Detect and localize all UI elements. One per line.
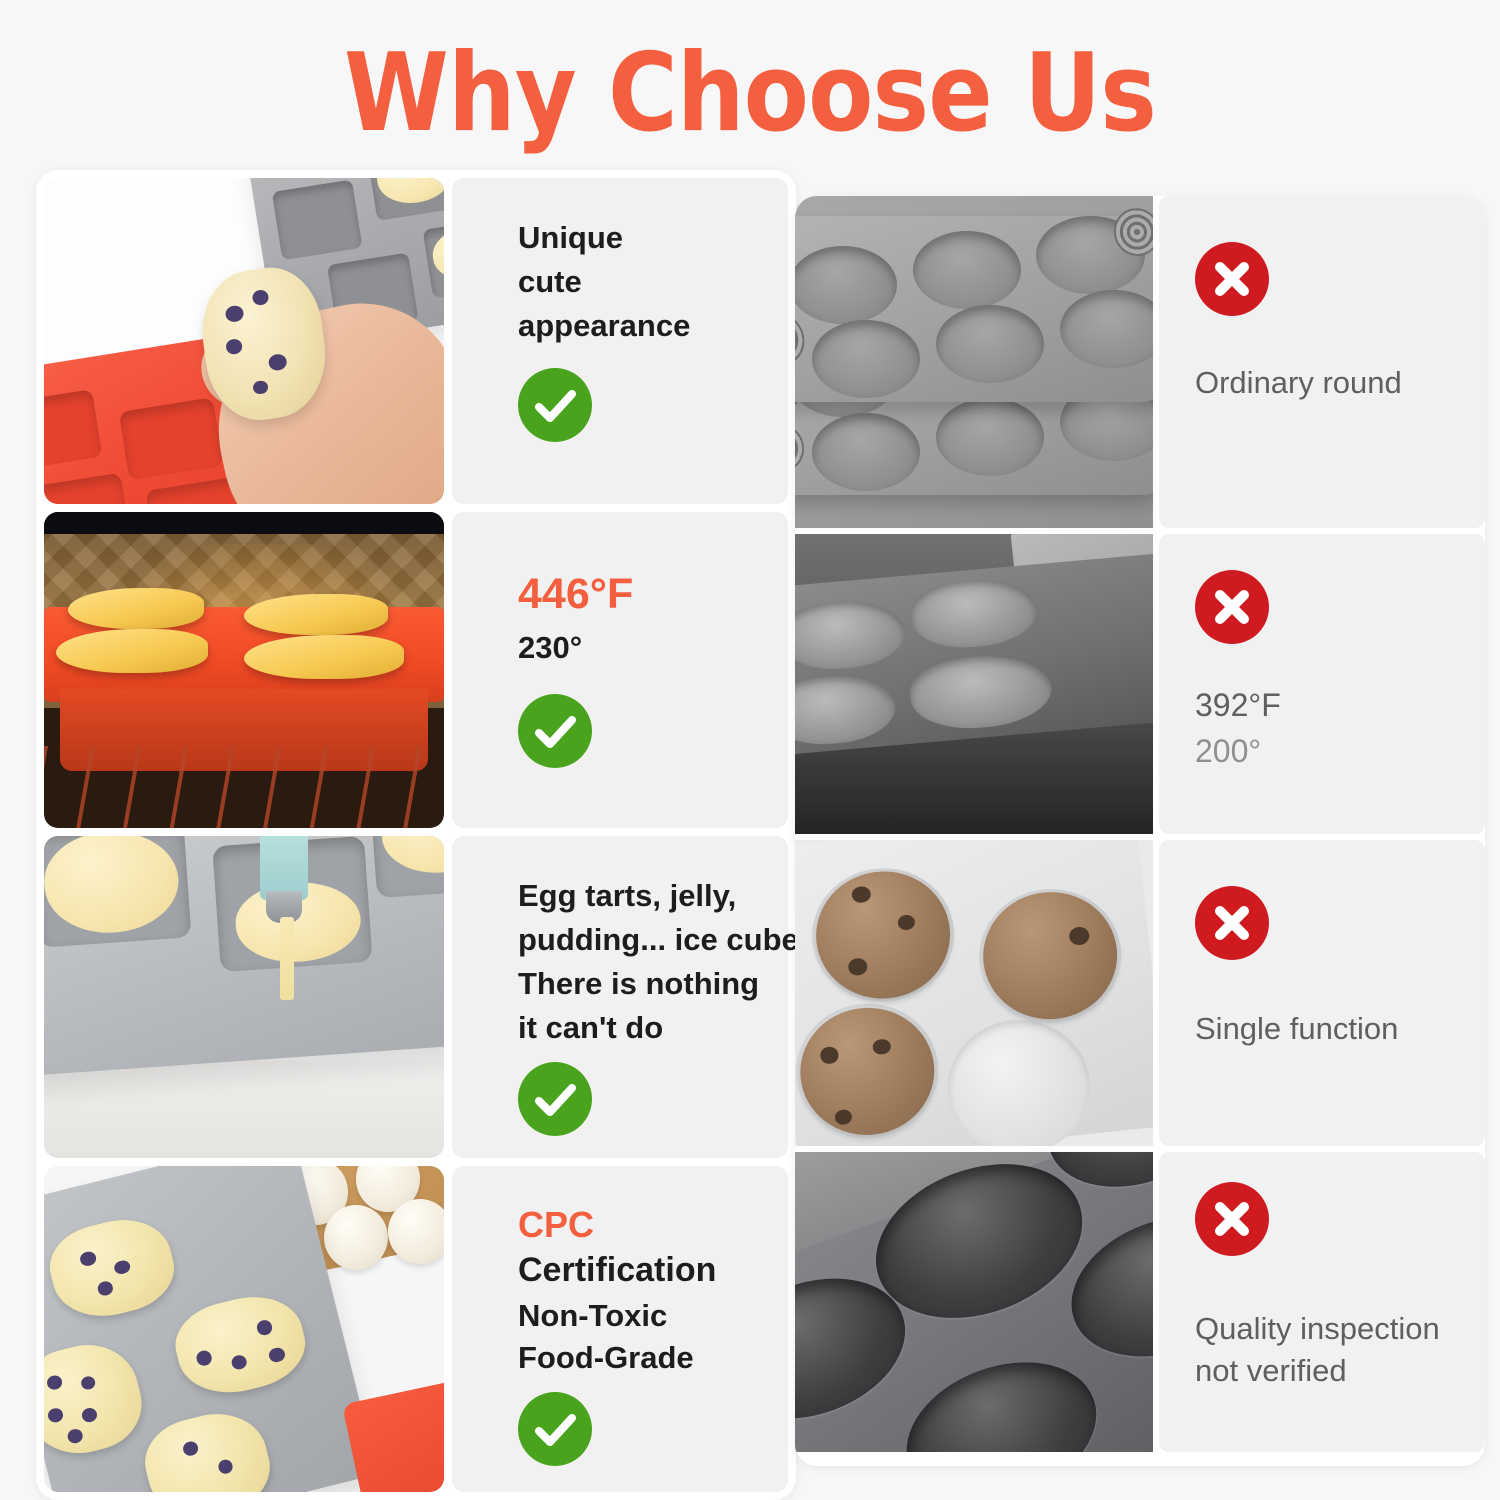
pro-card-multi-use: Egg tarts, jelly, pudding... ice cubes T…	[452, 836, 788, 1158]
photo-mold-in-oven	[44, 512, 444, 828]
cross-icon	[1195, 1182, 1269, 1256]
con-card-ordinary-round: Ordinary round	[1159, 196, 1485, 528]
cons-column: Ordinary round	[795, 196, 1485, 1466]
photo-piping-batter	[44, 836, 444, 1158]
pro-card-unique-appearance: Unique cute appearance	[452, 178, 788, 504]
pro-temp-celsius: 230°	[518, 630, 582, 666]
pro-row-unique-appearance: Unique cute appearance	[44, 178, 788, 504]
pro-text-line-3: There is nothing	[518, 962, 759, 1006]
pro-row-heat-resistance: 446°F 230°	[44, 512, 788, 828]
page-title: Why Choose Us	[90, 26, 1410, 161]
con-row-no-quality-inspection: Quality inspection not verified	[795, 1152, 1485, 1452]
oven-rack	[44, 746, 444, 828]
gray-mold	[44, 836, 444, 1077]
pro-text-line-2: Non-Toxic	[518, 1294, 667, 1338]
con-text-line-2: not verified	[1195, 1350, 1347, 1392]
infographic-page: Why Choose Us	[0, 0, 1500, 1500]
check-icon	[518, 1062, 592, 1136]
cross-icon	[1195, 242, 1269, 316]
pro-text-line-1: Unique	[518, 216, 623, 260]
dark-pan	[795, 1152, 1153, 1452]
photo-dark-round-pan-closeup	[795, 1152, 1153, 1452]
pro-text-line-4: it can't do	[518, 1006, 663, 1050]
oven-top-edge	[44, 512, 444, 534]
pro-row-multi-use: Egg tarts, jelly, pudding... ice cubes T…	[44, 836, 788, 1158]
pro-row-certification: CPC Certification Non-Toxic Food-Grade	[44, 1166, 788, 1492]
check-icon	[518, 1392, 592, 1466]
pro-text-line-2: cute	[518, 260, 582, 304]
pro-text-line-3: appearance	[518, 304, 690, 348]
con-text-line-1: Quality inspection	[1195, 1308, 1440, 1350]
check-icon	[518, 368, 592, 442]
pro-card-certification: CPC Certification Non-Toxic Food-Grade	[452, 1166, 788, 1492]
pro-card-heat-resistance: 446°F 230°	[452, 512, 788, 828]
speckled-tray	[795, 840, 1153, 1146]
cross-icon	[1195, 570, 1269, 644]
photo-speckled-tray-muffins	[795, 840, 1153, 1146]
pro-text-line-1: Egg tarts, jelly,	[518, 874, 736, 918]
photo-grayscale-mold-in-oven	[795, 534, 1153, 834]
pros-column: Unique cute appearance	[36, 170, 796, 1500]
con-card-single-function: Single function	[1159, 840, 1485, 1146]
con-row-lower-heat: 392°F 200°	[795, 534, 1485, 834]
con-temp-celsius: 200°	[1195, 730, 1261, 773]
photo-muffins-and-eggs	[44, 1166, 444, 1492]
batter-stream	[280, 917, 294, 1001]
pro-text-line-2: pudding... ice cubes	[518, 918, 796, 962]
cross-icon	[1195, 886, 1269, 960]
con-card-no-quality-inspection: Quality inspection not verified	[1159, 1152, 1485, 1452]
con-row-single-function: Single function	[795, 840, 1485, 1146]
table-surface	[44, 1061, 444, 1158]
gray-mold	[795, 552, 1153, 756]
check-icon	[518, 694, 592, 768]
con-text-line-1: Single function	[1195, 1008, 1398, 1050]
photo-hand-holding-muffin	[44, 178, 444, 504]
pro-text-line-1: Certification	[518, 1246, 716, 1294]
con-card-lower-heat: 392°F 200°	[1159, 534, 1485, 834]
photo-stacked-round-pans	[795, 196, 1153, 528]
con-row-ordinary-round: Ordinary round	[795, 196, 1485, 528]
con-text-line-1: Ordinary round	[1195, 362, 1402, 404]
pro-text-line-3: Food-Grade	[518, 1336, 694, 1380]
pro-accent-label: CPC	[518, 1204, 594, 1246]
con-temp-fahrenheit: 392°F	[1195, 684, 1281, 727]
pro-temp-fahrenheit: 446°F	[518, 570, 633, 619]
